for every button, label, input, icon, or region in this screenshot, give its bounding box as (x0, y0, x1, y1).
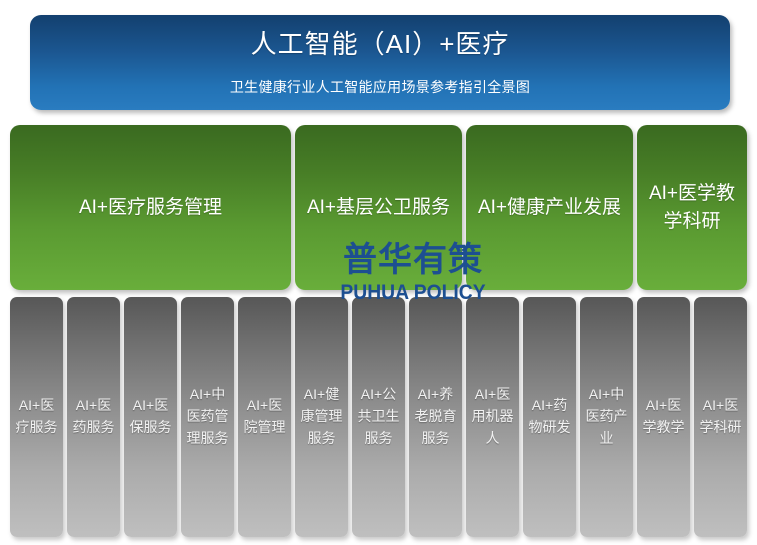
page-subtitle: 卫生健康行业人工智能应用场景参考指引全景图 (230, 77, 530, 97)
category-row: AI+医疗服务管理AI+基层公卫服务AI+健康产业发展AI+医学教学科研 (10, 125, 747, 290)
scenario-label: AI+公共卫生服务 (354, 384, 403, 449)
scenario-row: AI+医疗服务AI+医药服务AI+医保服务AI+中医药管理服务AI+医院管理AI… (10, 297, 747, 537)
category-card[interactable]: AI+健康产业发展 (466, 125, 633, 290)
scenario-label: AI+中医药管理服务 (183, 384, 232, 449)
scenario-card[interactable]: AI+健康管理服务 (295, 297, 348, 537)
scenario-label: AI+养老脱育服务 (411, 384, 460, 449)
scenario-card[interactable]: AI+医用机器人 (466, 297, 519, 537)
scenario-card[interactable]: AI+医学教学 (637, 297, 690, 537)
scenario-label: AI+医疗服务 (12, 395, 61, 438)
scenario-card[interactable]: AI+养老脱育服务 (409, 297, 462, 537)
infographic-canvas: 人工智能（AI）+医疗 卫生健康行业人工智能应用场景参考指引全景图 AI+医疗服… (0, 0, 757, 545)
scenario-card[interactable]: AI+医药服务 (67, 297, 120, 537)
category-label: AI+医学教学科研 (645, 180, 739, 235)
scenario-label: AI+医学教学 (639, 395, 688, 438)
scenario-label: AI+医保服务 (126, 395, 175, 438)
category-card[interactable]: AI+医疗服务管理 (10, 125, 291, 290)
scenario-label: AI+医学科研 (696, 395, 745, 438)
header-banner: 人工智能（AI）+医疗 卫生健康行业人工智能应用场景参考指引全景图 (30, 15, 730, 110)
scenario-card[interactable]: AI+医学科研 (694, 297, 747, 537)
category-label: AI+基层公卫服务 (307, 194, 450, 222)
scenario-card[interactable]: AI+医院管理 (238, 297, 291, 537)
category-card[interactable]: AI+医学教学科研 (637, 125, 747, 290)
scenario-card[interactable]: AI+公共卫生服务 (352, 297, 405, 537)
scenario-label: AI+健康管理服务 (297, 384, 346, 449)
scenario-card[interactable]: AI+医保服务 (124, 297, 177, 537)
scenario-card[interactable]: AI+中医药管理服务 (181, 297, 234, 537)
category-card[interactable]: AI+基层公卫服务 (295, 125, 462, 290)
scenario-card[interactable]: AI+药物研发 (523, 297, 576, 537)
scenario-card[interactable]: AI+中医药产业 (580, 297, 633, 537)
scenario-card[interactable]: AI+医疗服务 (10, 297, 63, 537)
scenario-label: AI+医药服务 (69, 395, 118, 438)
page-title: 人工智能（AI）+医疗 (251, 30, 510, 60)
category-label: AI+医疗服务管理 (79, 194, 222, 222)
category-label: AI+健康产业发展 (478, 194, 621, 222)
scenario-label: AI+药物研发 (525, 395, 574, 438)
scenario-label: AI+中医药产业 (582, 384, 631, 449)
scenario-label: AI+医用机器人 (468, 384, 517, 449)
scenario-label: AI+医院管理 (240, 395, 289, 438)
